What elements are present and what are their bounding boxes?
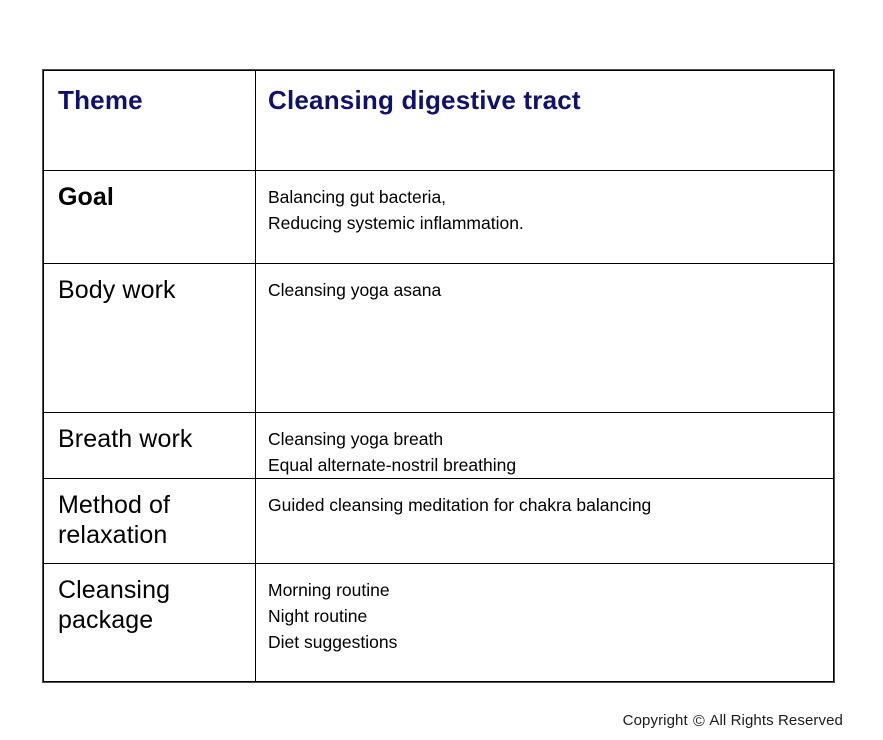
row-value-cell-goal: Balancing gut bacteria, Reducing systemi… xyxy=(256,171,834,264)
plan-table-container: Theme Cleansing digestive tract Goal Bal… xyxy=(43,70,833,681)
row-label-cell-body-work: Body work xyxy=(44,264,256,413)
plan-table: Theme Cleansing digestive tract Goal Bal… xyxy=(43,70,834,682)
value-line: Night routine xyxy=(268,604,823,630)
value-line: Cleansing yoga asana xyxy=(268,278,823,304)
row-value-cleansing-package: Morning routine Night routine Diet sugge… xyxy=(256,564,833,655)
row-label-cell-goal: Goal xyxy=(44,171,256,264)
value-line: Morning routine xyxy=(268,578,823,604)
table-header-row: Theme Cleansing digestive tract xyxy=(44,71,834,171)
row-value-body-work: Cleansing yoga asana xyxy=(256,264,833,304)
value-line: Cleansing yoga breath xyxy=(268,427,823,453)
copyright-word: Copyright xyxy=(623,712,692,729)
row-label-method-of-relaxation: Method of relaxation xyxy=(44,479,255,550)
header-title-text: Cleansing digestive tract xyxy=(256,71,833,116)
plan-table-body: Theme Cleansing digestive tract Goal Bal… xyxy=(44,71,834,682)
row-label-cell-breath-work: Breath work xyxy=(44,413,256,479)
rights-reserved-text: All Rights Reserved xyxy=(706,712,843,729)
row-value-cell-method-of-relaxation: Guided cleansing meditation for chakra b… xyxy=(256,479,834,564)
table-row: Breath work Cleansing yoga breath Equal … xyxy=(44,413,834,479)
row-value-goal: Balancing gut bacteria, Reducing systemi… xyxy=(256,171,833,236)
value-line: Guided cleansing meditation for chakra b… xyxy=(268,493,823,519)
row-value-cell-cleansing-package: Morning routine Night routine Diet sugge… xyxy=(256,564,834,682)
row-label-cell-method-of-relaxation: Method of relaxation xyxy=(44,479,256,564)
row-label-body-work: Body work xyxy=(44,264,255,306)
page-root: Theme Cleansing digestive tract Goal Bal… xyxy=(0,0,883,740)
value-line: Balancing gut bacteria, xyxy=(268,185,823,211)
header-label-theme: Theme xyxy=(44,71,255,116)
row-value-breath-work: Cleansing yoga breath Equal alternate-no… xyxy=(256,413,833,478)
table-row: Cleansing package Morning routine Night … xyxy=(44,564,834,682)
table-row: Body work Cleansing yoga asana xyxy=(44,264,834,413)
row-value-method-of-relaxation: Guided cleansing meditation for chakra b… xyxy=(256,479,833,519)
row-label-cleansing-package: Cleansing package xyxy=(44,564,255,635)
header-cell-title: Cleansing digestive tract xyxy=(256,71,834,171)
row-value-cell-breath-work: Cleansing yoga breath Equal alternate-no… xyxy=(256,413,834,479)
row-label-breath-work: Breath work xyxy=(44,413,255,455)
header-cell-theme: Theme xyxy=(44,71,256,171)
row-label-cell-cleansing-package: Cleansing package xyxy=(44,564,256,682)
copyright-icon: © xyxy=(692,713,706,730)
table-row: Goal Balancing gut bacteria, Reducing sy… xyxy=(44,171,834,264)
row-label-goal: Goal xyxy=(44,171,255,213)
table-row: Method of relaxation Guided cleansing me… xyxy=(44,479,834,564)
copyright-footer: Copyright © All Rights Reserved xyxy=(0,712,843,730)
value-line: Diet suggestions xyxy=(268,630,823,656)
row-value-cell-body-work: Cleansing yoga asana xyxy=(256,264,834,413)
value-line: Reducing systemic inflammation. xyxy=(268,211,823,237)
value-line: Equal alternate-nostril breathing xyxy=(268,453,823,479)
